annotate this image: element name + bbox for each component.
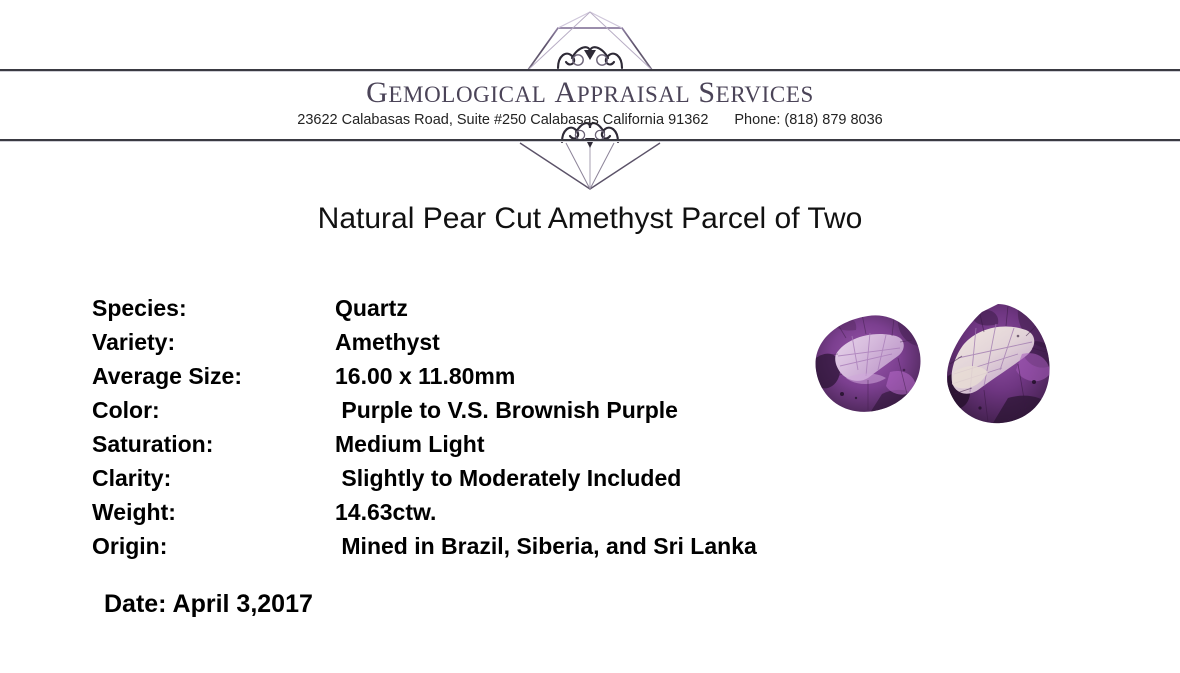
spec-row-species: Species:Quartz <box>92 291 892 325</box>
spec-row-variety: Variety:Amethyst <box>92 325 892 359</box>
spec-label: Origin: <box>92 529 335 563</box>
spec-row-color: Color: Purple to V.S. Brownish Purple <box>92 393 892 427</box>
company-name: GEMOLOGICAL APPRAISAL SERVICES <box>0 76 1180 110</box>
pear-cut-amethyst-pair-photo <box>812 298 1060 430</box>
address-line: 23622 Calabasas Road, Suite #250 Calabas… <box>0 112 1180 128</box>
spec-value: Medium Light <box>335 427 484 461</box>
amethyst-pear-right <box>944 304 1056 428</box>
spec-row-clarity: Clarity: Slightly to Moderately Included <box>92 461 892 495</box>
company-name-ppraisal: PPRAISAL <box>577 82 690 107</box>
company-name-ervices: ERVICES <box>716 82 814 107</box>
appraisal-certificate: GEMOLOGICAL APPRAISAL SERVICES 23622 Cal… <box>0 0 1180 673</box>
spec-value: Mined in Brazil, Siberia, and Sri Lanka <box>335 529 757 563</box>
spec-value: Quartz <box>335 291 408 325</box>
spec-label: Average Size: <box>92 359 335 393</box>
spec-row-origin: Origin: Mined in Brazil, Siberia, and Sr… <box>92 529 892 563</box>
gem-specification-list: Species:Quartz Variety:Amethyst Average … <box>92 291 892 563</box>
spec-label: Color: <box>92 393 335 427</box>
spec-label: Variety: <box>92 325 335 359</box>
street-address: 23622 Calabasas Road, Suite #250 Calabas… <box>297 112 708 128</box>
page-title: Natural Pear Cut Amethyst Parcel of Two <box>0 202 1180 236</box>
letterhead: GEMOLOGICAL APPRAISAL SERVICES 23622 Cal… <box>0 0 1180 195</box>
company-name-g: G <box>366 76 388 109</box>
company-name-a: A <box>555 76 577 109</box>
phone-number: Phone: (818) 879 8036 <box>734 112 882 128</box>
date-line: Date: April 3,2017 <box>104 590 313 619</box>
spec-value: Slightly to Moderately Included <box>335 461 681 495</box>
amethyst-pear-left <box>814 314 921 416</box>
spec-value: 16.00 x 11.80mm <box>335 359 515 393</box>
spec-value: Purple to V.S. Brownish Purple <box>335 393 678 427</box>
spec-row-weight: Weight:14.63ctw. <box>92 495 892 529</box>
header-rule-top <box>0 69 1180 71</box>
header-rule-bottom <box>0 139 1180 141</box>
company-name-emological: EMOLOGICAL <box>388 82 546 107</box>
spec-label: Species: <box>92 291 335 325</box>
spec-row-saturation: Saturation:Medium Light <box>92 427 892 461</box>
spec-label: Saturation: <box>92 427 335 461</box>
spec-value: Amethyst <box>335 325 440 359</box>
spec-label: Clarity: <box>92 461 335 495</box>
company-name-s: S <box>698 76 715 109</box>
spec-row-average-size: Average Size:16.00 x 11.80mm <box>92 359 892 393</box>
spec-value: 14.63ctw. <box>335 495 436 529</box>
spec-label: Weight: <box>92 495 335 529</box>
